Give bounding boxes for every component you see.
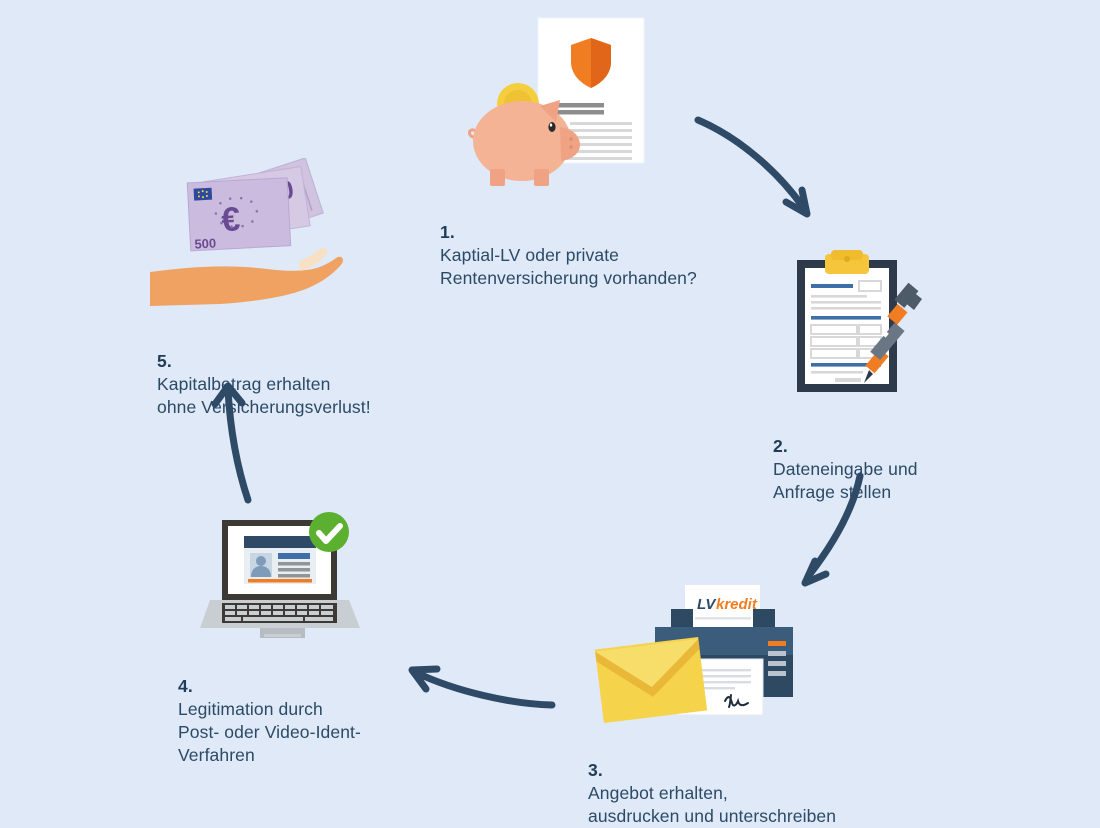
illustration-printer-envelope: LV kredit — [585, 583, 805, 728]
svg-text:LV: LV — [697, 596, 717, 613]
svg-text:kredit: kredit — [716, 596, 758, 613]
step-4-text: Legitimation durch Post- oder Video-Iden… — [178, 699, 361, 765]
illustration-clipboard-pen — [785, 250, 950, 400]
step-4-caption: 4. Legitimation durch Post- oder Video-I… — [178, 652, 408, 767]
step-2-number: 2. — [773, 436, 788, 456]
step-5-caption: 5. Kapitalbetrag erhalten ohne Versicher… — [157, 327, 417, 419]
clipboard-icon — [797, 250, 897, 392]
step-1-text: Kaptial-LV oder private Rentenversicheru… — [440, 245, 697, 288]
illustration-hand-euro-notes: 500 € 500 — [150, 158, 345, 308]
step-5-text: Kapitalbetrag erhalten ohne Versicherung… — [157, 374, 371, 417]
step-3-caption: 3. Angebot erhalten, ausdrucken und unte… — [588, 736, 908, 828]
check-icon — [309, 512, 349, 552]
step-4-number: 4. — [178, 676, 193, 696]
hand-icon — [150, 248, 343, 306]
id-card — [244, 536, 316, 584]
svg-text:500: 500 — [194, 236, 216, 252]
step-3-text: Angebot erhalten, ausdrucken und untersc… — [588, 783, 836, 826]
lvkredit-logo: LV kredit — [697, 596, 758, 613]
svg-text:€: € — [220, 200, 241, 239]
arrow-step1-to-step2 — [690, 110, 830, 235]
step-1-number: 1. — [440, 222, 455, 242]
step-5-number: 5. — [157, 351, 172, 371]
envelope-icon — [595, 637, 707, 723]
illustration-laptop-id-check — [200, 508, 365, 643]
euro-banknotes: 500 € 500 — [187, 158, 323, 252]
illustration-piggy-bank-document — [460, 14, 660, 196]
step-3-number: 3. — [588, 760, 603, 780]
arrow-step2-to-step3 — [790, 470, 880, 600]
arrow-step3-to-step4 — [395, 655, 560, 720]
